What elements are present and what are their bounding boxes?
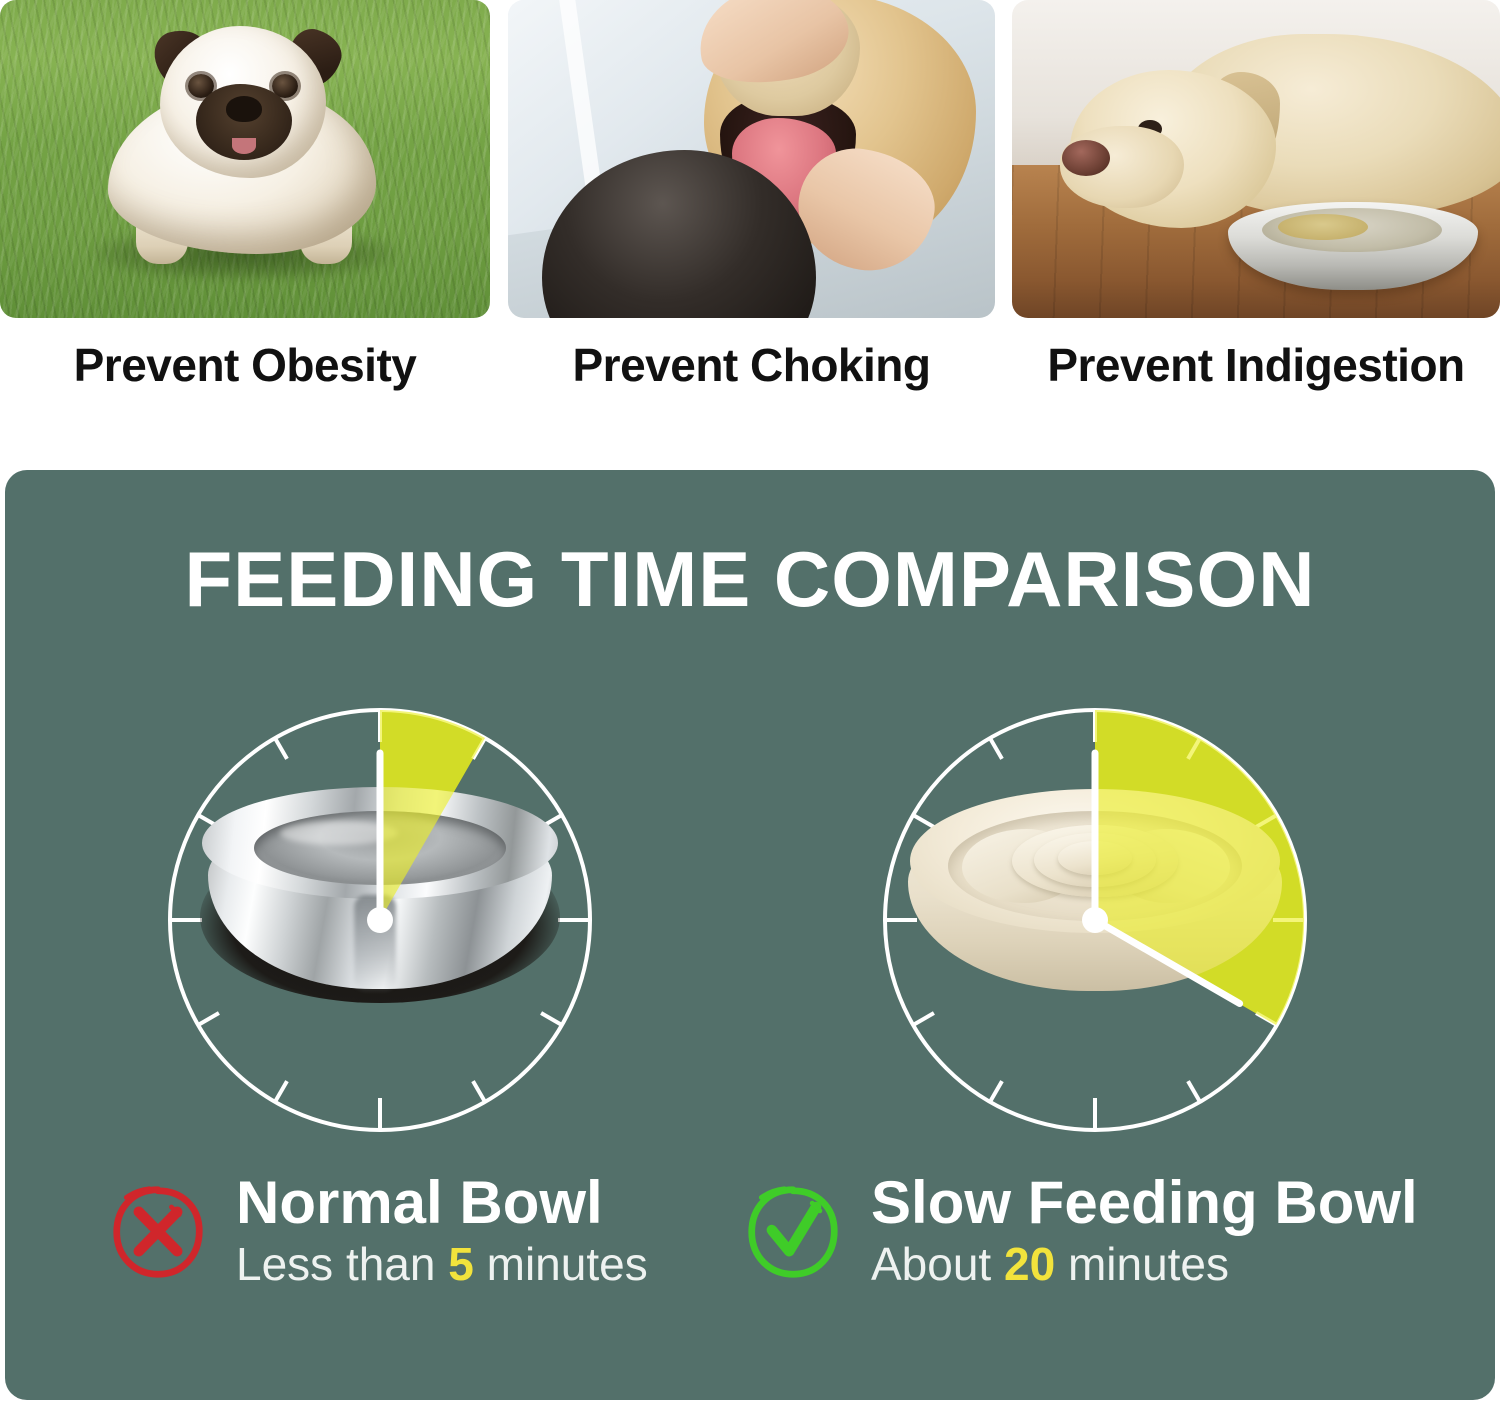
photo-indigestion	[1012, 0, 1500, 318]
slow-feeder-bowl	[908, 789, 1282, 1001]
kibble-pile	[1278, 214, 1368, 240]
result-sub-value: 5	[448, 1238, 474, 1290]
cross-mark-icon	[110, 1184, 206, 1280]
result-sub-suffix: minutes	[474, 1238, 648, 1290]
result-title: Slow Feeding Bowl	[871, 1170, 1418, 1236]
bowl-interior	[254, 811, 506, 885]
feeder-swirl-inner	[1058, 841, 1132, 875]
result-sub-value: 20	[1004, 1238, 1055, 1290]
bowl-highlight	[280, 821, 398, 845]
page-title: FEEDING TIME COMPARISON	[5, 540, 1495, 618]
pug-nose	[226, 96, 262, 122]
pug-tongue	[232, 138, 256, 154]
labrador-nose	[1062, 140, 1110, 176]
benefit-card-indigestion: Prevent Indigestion	[1012, 0, 1500, 318]
result-sub-prefix: Less than	[236, 1238, 448, 1290]
result-slow-feeding-bowl: Slow Feeding Bowl About 20 minutes	[745, 1170, 1445, 1300]
result-normal-bowl: Normal Bowl Less than 5 minutes	[110, 1170, 750, 1300]
result-title: Normal Bowl	[236, 1170, 648, 1236]
benefit-card-choking: Prevent Choking	[508, 0, 995, 318]
result-slow-text: Slow Feeding Bowl About 20 minutes	[871, 1170, 1418, 1292]
benefit-card-obesity: Prevent Obesity	[0, 0, 490, 318]
result-sub-suffix: minutes	[1055, 1238, 1229, 1290]
photo-choking	[508, 0, 995, 318]
benefit-caption-obesity: Prevent Obesity	[0, 338, 490, 392]
result-subtitle: About 20 minutes	[871, 1236, 1418, 1292]
slow-feeding-bowl-clock	[860, 685, 1330, 1155]
result-subtitle: Less than 5 minutes	[236, 1236, 648, 1292]
benefits-photo-strip: Prevent Obesity Prevent Choking	[0, 0, 1500, 430]
photo-obesity	[0, 0, 490, 318]
result-sub-prefix: About	[871, 1238, 1004, 1290]
bowl-reflection-streak	[354, 895, 396, 991]
benefit-caption-choking: Prevent Choking	[508, 338, 995, 392]
normal-bowl-clock	[145, 685, 615, 1155]
result-normal-text: Normal Bowl Less than 5 minutes	[236, 1170, 648, 1292]
benefit-caption-indigestion: Prevent Indigestion	[1012, 338, 1500, 392]
feeding-time-comparison-panel: FEEDING TIME COMPARISON	[5, 470, 1495, 1400]
check-mark-icon	[745, 1184, 841, 1280]
stainless-steel-bowl	[196, 777, 564, 1009]
